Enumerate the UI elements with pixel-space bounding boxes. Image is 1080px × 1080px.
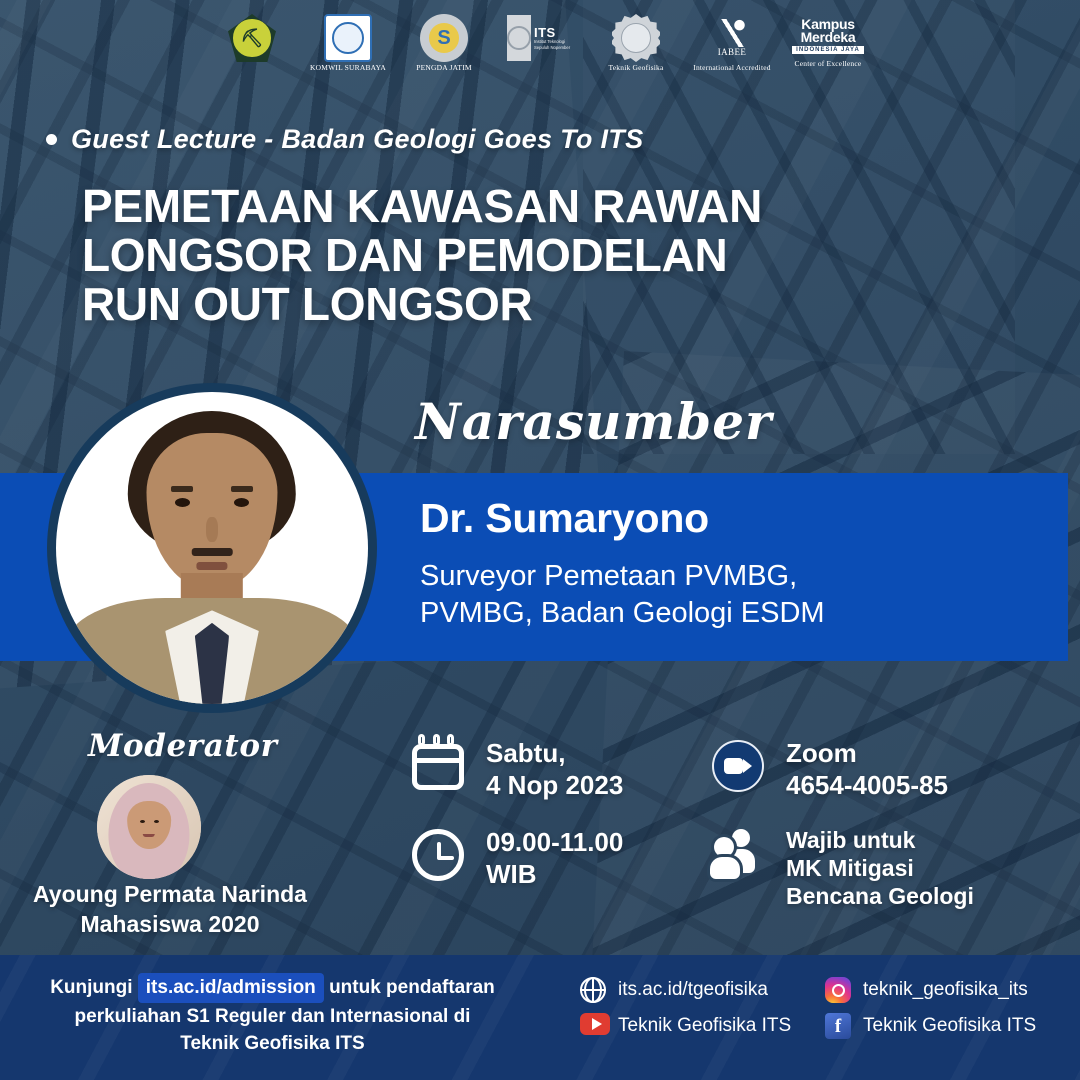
its-wordmark: ITS <box>534 26 573 39</box>
logo-kampus-merdeka: Kampus Merdeka INDONESIA JAYA Center of … <box>789 14 867 69</box>
page-title: PEMETAAN KAWASAN RAWAN LONGSOR DAN PEMOD… <box>82 182 862 330</box>
cta-line-2: perkuliahan S1 Reguler dan Internasional… <box>0 1003 545 1031</box>
speaker-section-label: Narasumber <box>415 392 772 451</box>
event-time-text: 09.00-11.00 WIB <box>486 825 623 890</box>
admission-cta: Kunjungi its.ac.id/admission untuk penda… <box>0 973 545 1058</box>
instagram-icon <box>825 977 851 1003</box>
logo-komwil-surabaya: KOMWIL SURABAYA <box>309 14 387 73</box>
iabee-logo-icon: IABEE <box>708 14 756 62</box>
title-line-3: RUN OUT LONGSOR <box>82 280 862 329</box>
event-audience-item: Wajib untuk MK Mitigasi Bencana Geologi <box>710 825 1070 910</box>
its-subtext: Institut Teknologi Sepuluh Nopember <box>534 39 573 50</box>
cta-line-3: Teknik Geofisika ITS <box>0 1030 545 1058</box>
logo-pengda-jatim: S PENGDA JATIM <box>405 14 483 73</box>
event-platform-line-2: 4654-4005-85 <box>786 770 948 802</box>
event-time-item: 09.00-11.00 WIB <box>410 825 710 910</box>
social-links: its.ac.id/tgeofisika teknik_geofisika_it… <box>580 977 1080 1039</box>
event-time-line-1: 09.00-11.00 <box>486 827 623 859</box>
speaker-role-line-1: Surveyor Pemetaan PVMBG, <box>420 558 825 595</box>
social-link-youtube[interactable]: Teknik Geofisika ITS <box>580 1013 825 1039</box>
teknik-geofisika-logo-icon <box>612 14 660 62</box>
moderator-section-label: Moderator <box>88 728 278 764</box>
admission-link[interactable]: its.ac.id/admission <box>138 973 324 1003</box>
speaker-role: Surveyor Pemetaan PVMBG, PVMBG, Badan Ge… <box>420 558 825 632</box>
cta-suffix: untuk pendaftaran <box>329 977 495 998</box>
event-platform-item: Zoom 4654-4005-85 <box>710 736 1070 801</box>
event-audience-line-3: Bencana Geologi <box>786 883 974 911</box>
event-audience-text: Wajib untuk MK Mitigasi Bencana Geologi <box>786 825 974 910</box>
logo-caption: International Accredited <box>693 64 770 73</box>
event-date-line-2: 4 Nop 2023 <box>486 770 623 802</box>
logo-its: ITS Institut Teknologi Sepuluh Nopember <box>501 14 579 64</box>
logo-caption: Teknik Geofisika <box>609 64 664 73</box>
moderator-avatar <box>97 775 201 879</box>
footer-bar: Kunjungi its.ac.id/admission untuk penda… <box>0 955 1080 1080</box>
iabee-wordmark: IABEE <box>718 47 747 57</box>
calendar-icon <box>410 736 468 794</box>
kampus-wordmark-bottom: INDONESIA JAYA <box>792 46 864 54</box>
bullet-icon <box>46 134 57 145</box>
social-link-facebook[interactable]: f Teknik Geofisika ITS <box>825 1013 1080 1039</box>
social-label: Teknik Geofisika ITS <box>618 1015 791 1037</box>
event-platform-line-1: Zoom <box>786 738 948 770</box>
youtube-icon <box>580 1013 606 1039</box>
social-link-instagram[interactable]: teknik_geofisika_its <box>825 977 1080 1003</box>
event-platform-text: Zoom 4654-4005-85 <box>786 736 948 801</box>
logo-teknik-geofisika: Teknik Geofisika <box>597 14 675 73</box>
partner-logo-strip: ⛏ KOMWIL SURABAYA S PENGDA JATIM ITS Ins… <box>0 14 1080 96</box>
event-date-text: Sabtu, 4 Nop 2023 <box>486 736 623 801</box>
social-label: teknik_geofisika_its <box>863 979 1028 1001</box>
event-date-line-1: Sabtu, <box>486 738 623 770</box>
logo-ikatan-ahli-geologi: ⛏ <box>213 14 291 64</box>
event-audience-line-1: Wajib untuk <box>786 827 974 855</box>
event-audience-line-2: MK Mitigasi <box>786 855 974 883</box>
moderator-name: Ayoung Permata Narinda <box>20 880 320 910</box>
its-logo-icon: ITS Institut Teknologi Sepuluh Nopember <box>507 14 573 62</box>
cta-prefix: Kunjungi <box>50 977 132 998</box>
speaker-avatar <box>47 383 377 713</box>
pengda-jatim-logo-icon: S <box>420 14 468 62</box>
kampus-wordmark-mid: Merdeka <box>801 31 856 44</box>
moderator-details: Ayoung Permata Narinda Mahasiswa 2020 <box>20 880 320 940</box>
speaker-name: Dr. Sumaryono <box>420 495 709 542</box>
kampus-merdeka-logo-icon: Kampus Merdeka INDONESIA JAYA <box>791 14 865 58</box>
social-link-website[interactable]: its.ac.id/tgeofisika <box>580 977 825 1003</box>
speaker-role-line-2: PVMBG, Badan Geologi ESDM <box>420 595 825 632</box>
facebook-icon: f <box>825 1013 851 1039</box>
logo-iabee: IABEE International Accredited <box>693 14 771 73</box>
komwil-surabaya-logo-icon <box>324 14 372 62</box>
logo-caption: PENGDA JATIM <box>416 64 472 73</box>
logo-caption: KOMWIL SURABAYA <box>310 64 386 73</box>
poster-canvas: ⛏ KOMWIL SURABAYA S PENGDA JATIM ITS Ins… <box>0 0 1080 1080</box>
event-details-grid: Sabtu, 4 Nop 2023 Zoom 4654-4005-85 09.0… <box>410 736 1070 910</box>
moderator-affiliation: Mahasiswa 2020 <box>20 910 320 940</box>
event-kicker-text: Guest Lecture - Badan Geologi Goes To IT… <box>71 124 643 155</box>
event-kicker: Guest Lecture - Badan Geologi Goes To IT… <box>46 124 643 155</box>
title-line-2: LONGSOR DAN PEMODELAN <box>82 231 862 280</box>
people-icon <box>710 825 768 883</box>
social-label: its.ac.id/tgeofisika <box>618 979 768 1001</box>
ikatan-ahli-geologi-logo-icon: ⛏ <box>228 14 276 62</box>
title-line-1: PEMETAAN KAWASAN RAWAN <box>82 182 862 231</box>
globe-icon <box>580 977 606 1003</box>
social-label: Teknik Geofisika ITS <box>863 1015 1036 1037</box>
event-time-line-2: WIB <box>486 859 623 891</box>
video-camera-icon <box>710 736 768 794</box>
clock-icon <box>410 825 468 883</box>
event-date-item: Sabtu, 4 Nop 2023 <box>410 736 710 801</box>
logo-caption: Center of Excellence <box>795 60 862 69</box>
